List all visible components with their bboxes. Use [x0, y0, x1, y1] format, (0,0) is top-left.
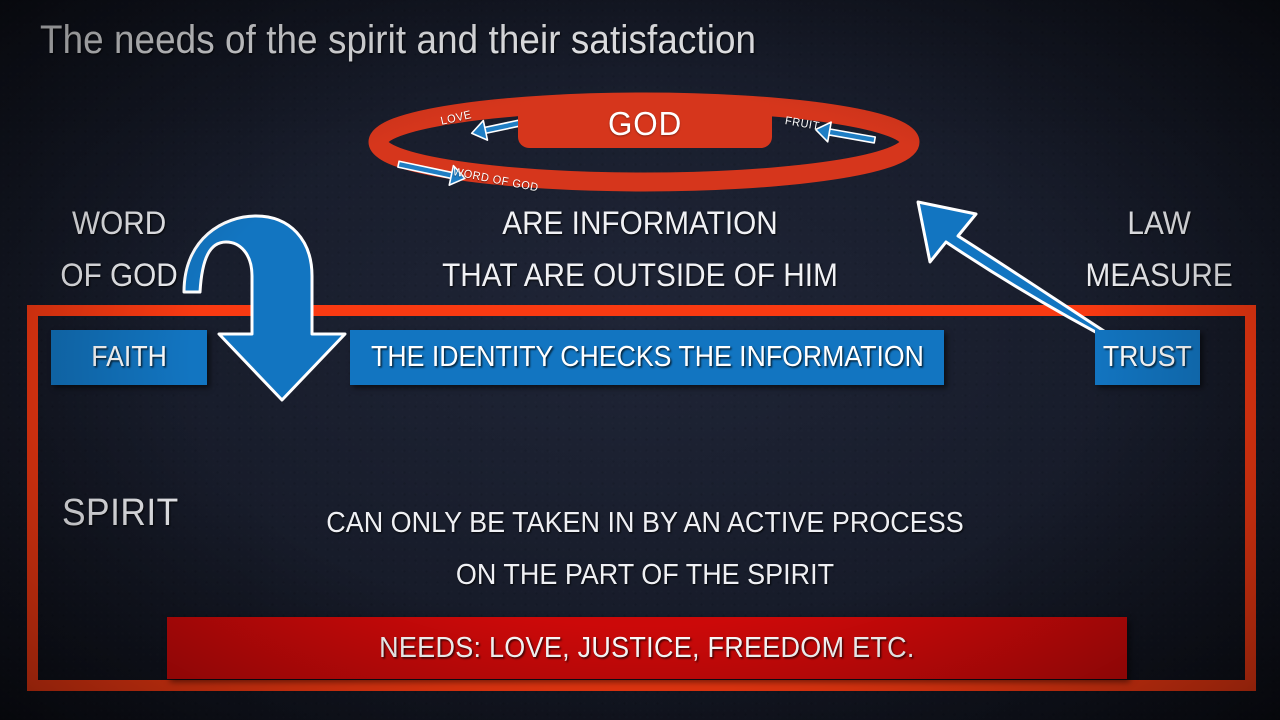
god-label: GOD [608, 105, 682, 143]
spirit-description: CAN ONLY BE TAKEN IN BY AN ACTIVE PROCES… [240, 498, 1049, 601]
needs-label: NEEDS: LOVE, JUSTICE, FREEDOM ETC. [379, 632, 914, 665]
faith-box[interactable]: FAITH [51, 330, 207, 385]
god-cycle-diagram: GOD LOVE FRUIT WORD OF GOD [372, 92, 917, 192]
trust-label: TRUST [1103, 341, 1192, 374]
page-title: The needs of the spirit and their satisf… [40, 18, 756, 63]
identity-label: THE IDENTITY CHECKS THE INFORMATION [371, 341, 924, 374]
trust-box[interactable]: TRUST [1095, 330, 1200, 385]
god-box: GOD [518, 100, 772, 148]
identity-checks-box[interactable]: THE IDENTITY CHECKS THE INFORMATION [350, 330, 944, 385]
slide-canvas: The needs of the spirit and their satisf… [0, 0, 1280, 720]
needs-bar: NEEDS: LOVE, JUSTICE, FREEDOM ETC. [167, 617, 1127, 679]
spirit-label: SPIRIT [62, 492, 179, 535]
faith-label: FAITH [91, 341, 167, 374]
curved-up-left-arrow-icon [900, 196, 1130, 346]
